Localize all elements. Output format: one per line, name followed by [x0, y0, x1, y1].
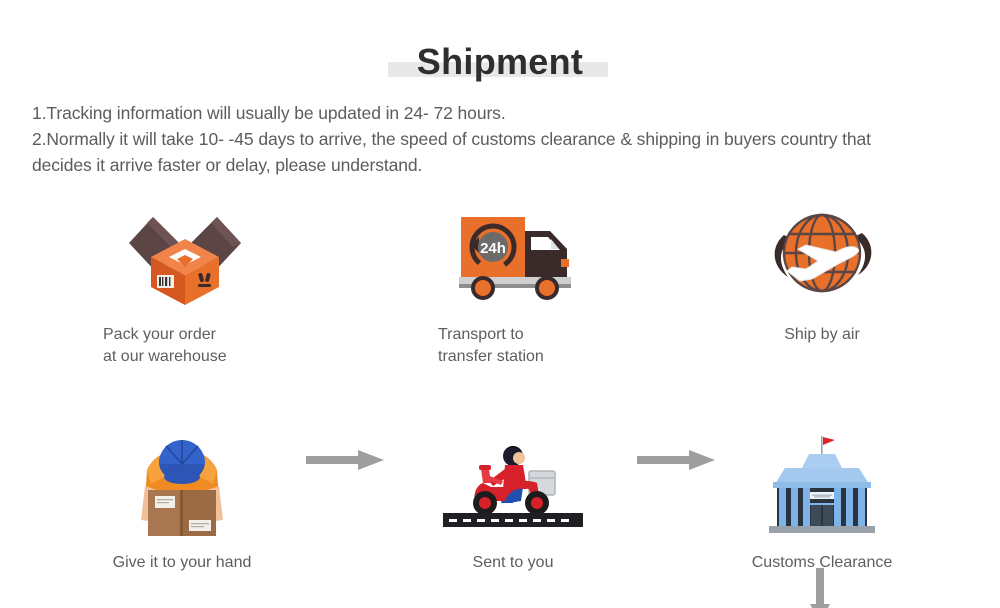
step-pack-order: Pack your order at our warehouse: [85, 200, 285, 368]
step-give-to-hand: Give it to your hand: [82, 428, 282, 574]
shipping-note-line-2: 2.Normally it will take 10- -45 days to …: [32, 126, 964, 152]
globe-airplane-icon: [762, 201, 882, 309]
arrow-right-icon: [306, 446, 384, 474]
arrow-air-to-customs: [806, 568, 834, 608]
arrow-right-icon: [637, 446, 715, 474]
open-box-icon-container: [85, 200, 285, 310]
courier-with-parcel-icon: [123, 428, 241, 538]
scooter-courier-icon: [443, 431, 583, 535]
step-customs-clearance: Customs Clearance: [722, 428, 922, 574]
page-title: Shipment: [417, 44, 583, 80]
step-label-pack-order: Pack your order at our warehouse: [85, 324, 285, 368]
customs-building-icon-container: [722, 428, 922, 538]
delivery-truck-icon: 24h: [455, 203, 585, 307]
customs-building-icon: [759, 430, 885, 536]
shipping-note-line-1: 1.Tracking information will usually be u…: [32, 100, 964, 126]
shipment-flow-diagram: Pack your order at our warehouse 24h: [0, 196, 1000, 596]
scooter-courier-icon-container: [413, 428, 613, 538]
shipment-infographic: Shipment 1.Tracking information will usu…: [0, 0, 1000, 608]
page-title-area: Shipment: [0, 34, 1000, 90]
shipping-notes: 1.Tracking information will usually be u…: [32, 100, 964, 178]
globe-airplane-icon-container: [722, 200, 922, 310]
step-label-sent-to-you: Sent to you: [413, 552, 613, 574]
arrow-down-icon: [806, 568, 834, 608]
step-transport: 24h Transport to transfer station: [420, 200, 620, 368]
step-label-give-to-hand: Give it to your hand: [82, 552, 282, 574]
arrow-pack-to-transport: [306, 446, 384, 479]
step-label-ship-by-air: Ship by air: [722, 324, 922, 346]
open-box-icon: [125, 201, 245, 309]
truck-badge-text: 24h: [480, 240, 506, 257]
step-ship-by-air: Ship by air: [722, 200, 922, 346]
step-sent-to-you: Sent to you: [413, 428, 613, 574]
delivery-truck-icon-container: 24h: [420, 200, 620, 310]
courier-with-parcel-icon-container: [82, 428, 282, 538]
step-label-transport: Transport to transfer station: [420, 324, 620, 368]
shipping-note-line-3: decides it arrive faster or delay, pleas…: [32, 152, 964, 178]
arrow-transport-to-air: [637, 446, 715, 479]
